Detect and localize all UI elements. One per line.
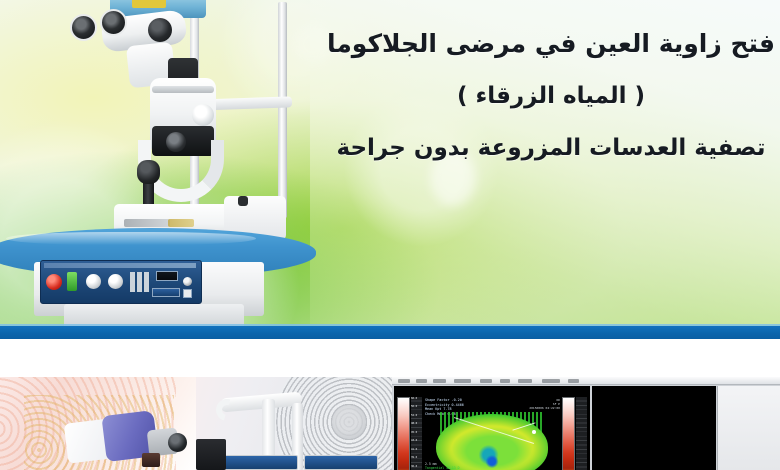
menu-item-help[interactable] [568,379,579,383]
table-top-highlight [6,232,256,245]
placido-topographer-tile [196,377,392,470]
objective-knob [148,18,172,42]
scale-label: 45.0 [411,431,422,435]
logo-strip: Visionstar ✱ [0,339,780,377]
headline-line-3: تصفية العدسات المزروعة بدون جراحة [316,122,780,174]
control-keypad [130,272,150,292]
menu-item-map[interactable] [500,379,510,383]
tile-edge-shadow [196,439,226,470]
workstation-monitor-right [304,455,378,470]
table-pedestal [64,304,244,326]
scale-label: 56.0 [411,405,422,409]
software-control-panel: Elevation ▾ Map View SHOW IMAGE COLOR MA… [717,386,780,470]
status-indicator [183,289,192,298]
workstation-monitor-left [224,455,298,470]
bottom-image-row: 60.0 56.0 52.0 48.0 45.0 43.0 41.0 39.0 … [0,377,780,470]
menu-item-edit[interactable] [416,379,427,383]
blue-divider-bar [0,326,780,339]
eyepiece-left [70,14,97,41]
energy-display [156,271,178,281]
scale-label: 43.0 [411,439,422,443]
offset-knob [108,274,123,289]
color-scale-ticks-right [576,397,587,470]
joystick-cap [137,160,160,184]
handheld-device-tile [0,377,196,470]
headline-block: فتح زاوية العين في مرضى الجلاكوما ( المي… [316,18,780,174]
headline-line-2: ( المياه الزرقاء ) [316,70,780,122]
device-grip [142,453,160,467]
energy-knob [86,274,101,289]
slit-lamp-device-photo [0,0,340,326]
topography-map-panel[interactable]: 60.0 56.0 52.0 48.0 45.0 43.0 41.0 39.0 … [394,386,590,470]
topography-software-tile: 60.0 56.0 52.0 48.0 45.0 43.0 41.0 39.0 … [392,377,780,470]
menu-item-tools[interactable] [518,379,532,383]
headline-line-1: فتح زاوية العين في مرضى الجلاكوما [316,18,780,70]
counter-display [152,288,180,297]
scale-label: 41.0 [411,448,422,452]
scale-label: 60.0 [411,397,422,401]
emergency-stop-button [46,274,62,290]
menu-item-file[interactable] [398,379,410,383]
laser-head-label [132,0,166,8]
mode-indicator [183,277,192,286]
device-lens [168,433,187,452]
menu-item-window[interactable] [542,379,560,383]
footer-reading: Tangential 43.13 D [425,466,460,470]
map-cursor-point[interactable] [532,430,536,434]
banner-page: فتح زاوية العين في مرضى الجلاكوما ( المي… [0,0,780,470]
scale-label: 39.0 [411,456,422,460]
scale-label: 48.0 [411,422,422,426]
meta-timestamp: 20150806 04:22:00 [506,406,560,410]
power-switch [67,272,77,291]
barrel-ring [152,86,214,93]
topography-footer: 2.5 mm Tangential 43.13 D [425,462,460,470]
base-knob [238,196,248,206]
chinrest-post [278,2,287,218]
menu-item-view[interactable] [433,379,446,383]
scale-label: 36.0 [411,465,422,469]
control-panel-strip [44,263,196,268]
eye-image-panel[interactable]: OD SF P 20150806 04:22:00 [592,386,716,470]
placido-center-aperture [332,405,366,439]
menu-item-patient[interactable] [454,379,471,383]
magnification-dial [192,104,214,126]
top-banner: فتح زاوية العين في مرضى الجلاكوما ( المي… [0,0,780,326]
eyepiece-right [100,9,127,36]
menu-item-exam[interactable] [480,379,492,383]
color-scale-bar-left [397,397,410,470]
color-scale-bar-right [562,397,575,470]
base-warning-label [168,219,194,227]
base-brand-mark [124,219,170,227]
scale-label: 52.0 [411,414,422,418]
color-scale-labels-left: 60.0 56.0 52.0 48.0 45.0 43.0 41.0 39.0 … [411,397,422,470]
software-menu-bar[interactable] [392,377,780,385]
